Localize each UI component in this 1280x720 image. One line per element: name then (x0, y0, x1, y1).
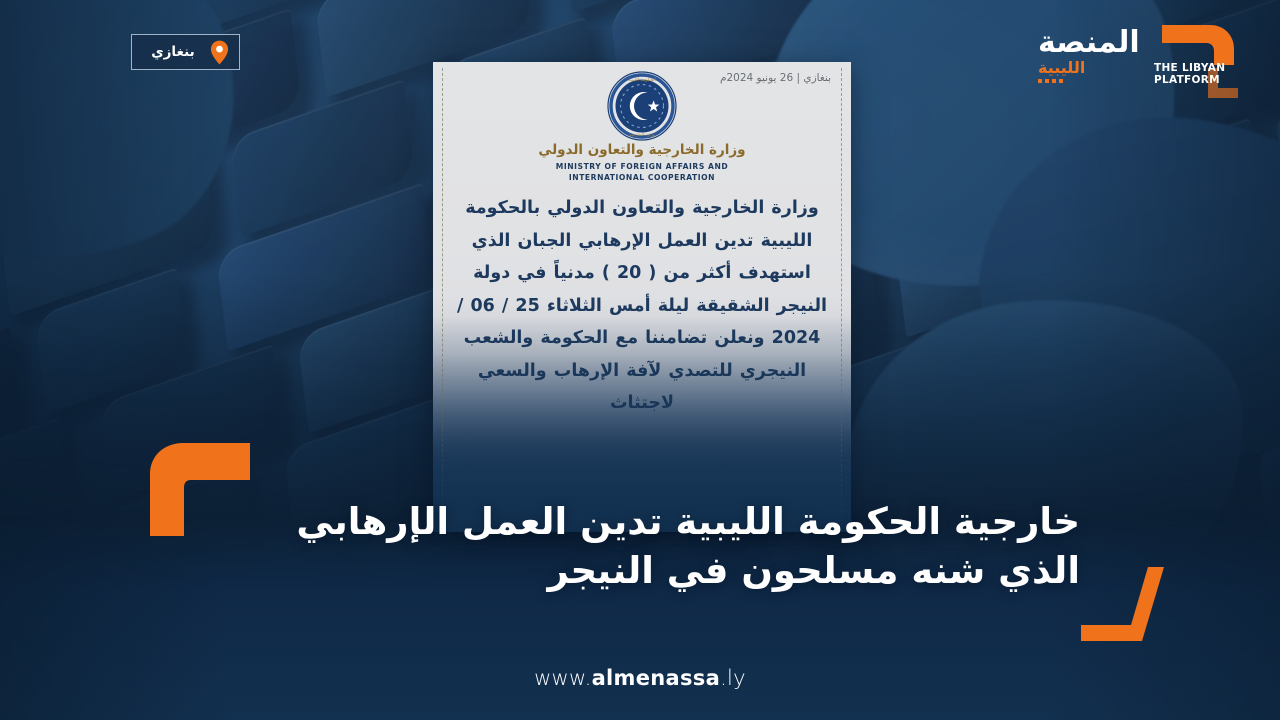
location-badge-label: بنغازي (140, 44, 202, 60)
orange-check-bracket-icon (1076, 563, 1168, 645)
brand-logo[interactable]: المنصة الليبية THE LIBYAN PLATFORM (1038, 16, 1242, 108)
svg-text:وزارة الخارجية: وزارة الخارجية (629, 132, 654, 137)
brand-arabic-secondary: الليبية (1038, 59, 1085, 77)
platform-bracket-logo-icon (1158, 18, 1242, 104)
statement-document[interactable]: بنغازي | 26 يونيو 2024م الحكومة الليبية … (433, 62, 851, 532)
brand-english-lines: THE LIBYAN PLATFORM (1154, 62, 1238, 87)
brand-dots-decoration (1038, 79, 1063, 83)
poster-canvas: بنغازي المنصة الليبية THE LIBYAN PLATFOR… (0, 0, 1280, 720)
ministry-english-line1: MINISTRY OF FOREIGN AFFAIRS AND (433, 161, 851, 172)
document-body-text: وزارة الخارجية والتعاون الدولي بالحكومة … (455, 192, 829, 420)
url-brand: almenassa (592, 666, 721, 690)
location-badge[interactable]: بنغازي (131, 34, 240, 70)
map-pin-icon (210, 40, 229, 65)
document-paper: بنغازي | 26 يونيو 2024م الحكومة الليبية … (433, 62, 851, 532)
libya-government-seal-icon: الحكومة الليبية وزارة الخارجية (606, 70, 678, 142)
headline-line2: الذي شنه مسلحون في النيجر (120, 547, 1080, 596)
brand-wordmark: المنصة الليبية (1038, 28, 1164, 83)
brand-english-line2: PLATFORM (1154, 74, 1238, 86)
ministry-name-english: MINISTRY OF FOREIGN AFFAIRS AND INTERNAT… (433, 161, 851, 183)
page-title: خارجية الحكومة الليبية تدين العمل الإرها… (120, 498, 1080, 596)
website-url[interactable]: www.almenassa.ly (0, 666, 1280, 690)
svg-text:الحكومة الليبية: الحكومة الليبية (628, 77, 656, 83)
ministry-name-arabic: وزارة الخارجية والتعاون الدولي (433, 142, 851, 158)
document-date-line: بنغازي | 26 يونيو 2024م (720, 72, 831, 84)
headline-line1: خارجية الحكومة الليبية تدين العمل الإرها… (296, 500, 1080, 543)
brand-english-line1: THE LIBYAN (1154, 62, 1238, 74)
url-suffix: .ly (720, 666, 746, 690)
brand-arabic-primary: المنصة (1038, 28, 1140, 58)
url-prefix: www. (534, 666, 591, 690)
ministry-english-line2: INTERNATIONAL COOPERATION (433, 172, 851, 183)
